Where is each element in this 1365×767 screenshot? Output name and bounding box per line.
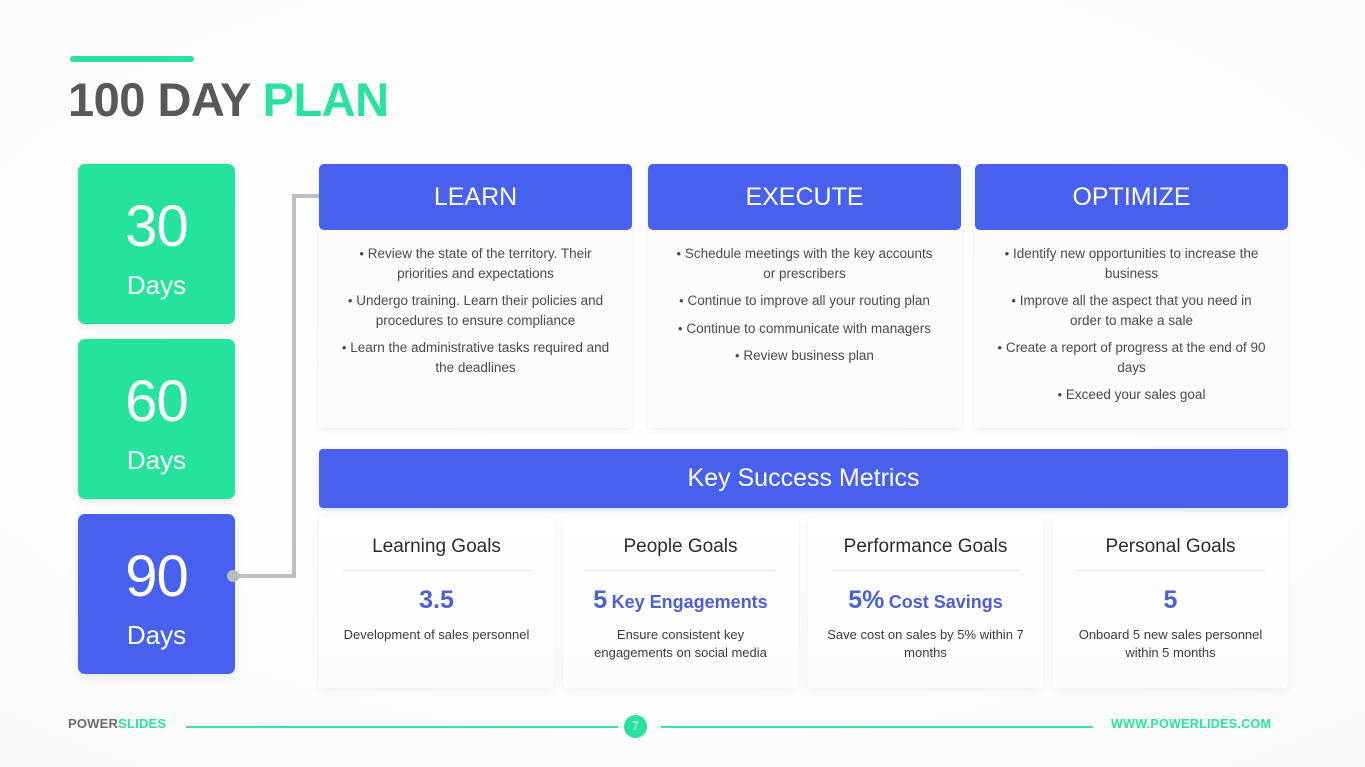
bullet-dot-icon: • [679,293,684,308]
phase-body: • Schedule meetings with the key account… [648,230,961,374]
bullet-text: Schedule meetings with the key accounts … [685,246,933,281]
metric-card-learning-goals[interactable]: Learning Goals 3.5 Development of sales … [319,518,554,688]
metric-title: Personal Goals [1067,536,1274,558]
metric-title: People Goals [577,536,784,558]
connector-line-horizontal-bottom [236,574,296,578]
list-item: • Continue to improve all your routing p… [662,291,947,311]
list-item: • Exceed your sales goal [989,385,1274,405]
metric-value-primary: 5% [848,586,884,614]
connector-line-horizontal-top [292,194,322,198]
bullet-text: Review business plan [743,348,874,363]
metric-description: Onboard 5 new sales personnel within 5 m… [1067,626,1274,662]
bullet-dot-icon: • [348,293,353,308]
footer-divider-left [186,726,618,728]
phase-body: • Identify new opportunities to increase… [975,230,1288,413]
bullet-text: Continue to communicate with managers [686,321,931,336]
bullet-dot-icon: • [678,321,683,336]
timeline-chip-number: 90 [78,548,235,606]
bullet-text: Improve all the aspect that you need in … [1020,293,1252,328]
bullet-text: Exceed your sales goal [1066,387,1206,402]
metric-value: 5 [1067,587,1274,617]
key-success-metrics-bar[interactable]: Key Success Metrics [319,449,1288,508]
title-accent-bar [70,56,194,62]
metric-title: Learning Goals [333,536,540,558]
list-item: • Create a report of progress at the end… [989,338,1274,377]
metric-value-primary: 3.5 [419,586,454,614]
bullet-text: Review the state of the territory. Their… [368,246,592,281]
footer-logo: POWERSLIDES [68,716,166,731]
bullet-dot-icon: • [342,340,347,355]
bullet-text: Continue to improve all your routing pla… [687,293,929,308]
bullet-text: Learn the administrative tasks required … [350,340,609,375]
page-title-main: 100 DAY [68,73,263,126]
bullet-dot-icon: • [1011,293,1016,308]
bullet-dot-icon: • [998,340,1003,355]
bullet-dot-icon: • [1058,387,1063,402]
list-item: • Review business plan [662,346,947,366]
timeline-chip-label: Days [78,272,235,298]
slide-canvas: 100 DAY PLAN 30 Days 60 Days 90 Days LEA… [0,0,1365,767]
metric-value-secondary: Cost Savings [889,592,1003,612]
list-item: • Undergo training. Learn their policies… [333,291,618,330]
metric-divider [832,570,1020,571]
footer-logo-second: SLIDES [118,716,166,731]
metric-card-people-goals[interactable]: People Goals 5 Key Engagements Ensure co… [563,518,798,688]
list-item: • Improve all the aspect that you need i… [989,291,1274,330]
metric-value: 5% Cost Savings [822,587,1029,617]
bullet-dot-icon: • [677,246,682,261]
timeline-chip-90-days[interactable]: 90 Days [78,514,235,674]
list-item: • Identify new opportunities to increase… [989,244,1274,283]
metric-value-primary: 5 [1164,586,1178,614]
footer-page-number-badge: 7 [624,715,647,738]
metric-card-personal-goals[interactable]: Personal Goals 5 Onboard 5 new sales per… [1053,518,1288,688]
phase-column-optimize: OPTIMIZE • Identify new opportunities to… [975,164,1288,428]
list-item: • Review the state of the territory. The… [333,244,618,283]
metric-value-primary: 5 [593,586,607,614]
phase-heading-learn[interactable]: LEARN [319,164,632,230]
metric-value: 3.5 [333,587,540,617]
bullet-text: Undergo training. Learn their policies a… [356,293,603,328]
metric-divider [1077,570,1265,571]
footer-logo-first: POWER [68,716,118,731]
metric-description: Save cost on sales by 5% within 7 months [822,626,1029,662]
list-item: • Continue to communicate with managers [662,319,947,339]
timeline-chip-60-days[interactable]: 60 Days [78,339,235,499]
metric-card-performance-goals[interactable]: Performance Goals 5% Cost Savings Save c… [808,518,1043,688]
phase-column-execute: EXECUTE • Schedule meetings with the key… [648,164,961,428]
page-title: 100 DAY PLAN [68,72,389,127]
timeline-chip-number: 60 [78,373,235,431]
page-title-accent: PLAN [263,73,389,126]
list-item: • Schedule meetings with the key account… [662,244,947,283]
footer-divider-right [661,726,1093,728]
metric-value: 5 Key Engagements [577,587,784,617]
timeline-chip-label: Days [78,447,235,473]
phase-body: • Review the state of the territory. The… [319,230,632,385]
bullet-dot-icon: • [359,246,364,261]
bullet-text: Create a report of progress at the end o… [1006,340,1266,375]
phase-bullet-list: • Schedule meetings with the key account… [662,244,947,366]
phase-heading-optimize[interactable]: OPTIMIZE [975,164,1288,230]
bullet-dot-icon: • [1005,246,1010,261]
phase-heading-execute[interactable]: EXECUTE [648,164,961,230]
bullet-text: Identify new opportunities to increase t… [1013,246,1258,281]
phase-bullet-list: • Identify new opportunities to increase… [989,244,1274,405]
timeline-chip-number: 30 [78,198,235,256]
bullet-dot-icon: • [735,348,740,363]
metric-title: Performance Goals [822,536,1029,558]
metric-divider [343,570,531,571]
metric-description: Development of sales personnel [333,626,540,644]
list-item: • Learn the administrative tasks require… [333,338,618,377]
metric-divider [587,570,775,571]
connector-line-vertical [292,195,296,576]
phase-bullet-list: • Review the state of the territory. The… [333,244,618,377]
timeline-chip-label: Days [78,622,235,648]
metric-description: Ensure consistent key engagements on soc… [577,626,784,662]
metric-value-secondary: Key Engagements [612,592,768,612]
phase-column-learn: LEARN • Review the state of the territor… [319,164,632,428]
timeline-chip-30-days[interactable]: 30 Days [78,164,235,324]
footer-website-url[interactable]: WWW.POWERLIDES.COM [1111,717,1271,731]
